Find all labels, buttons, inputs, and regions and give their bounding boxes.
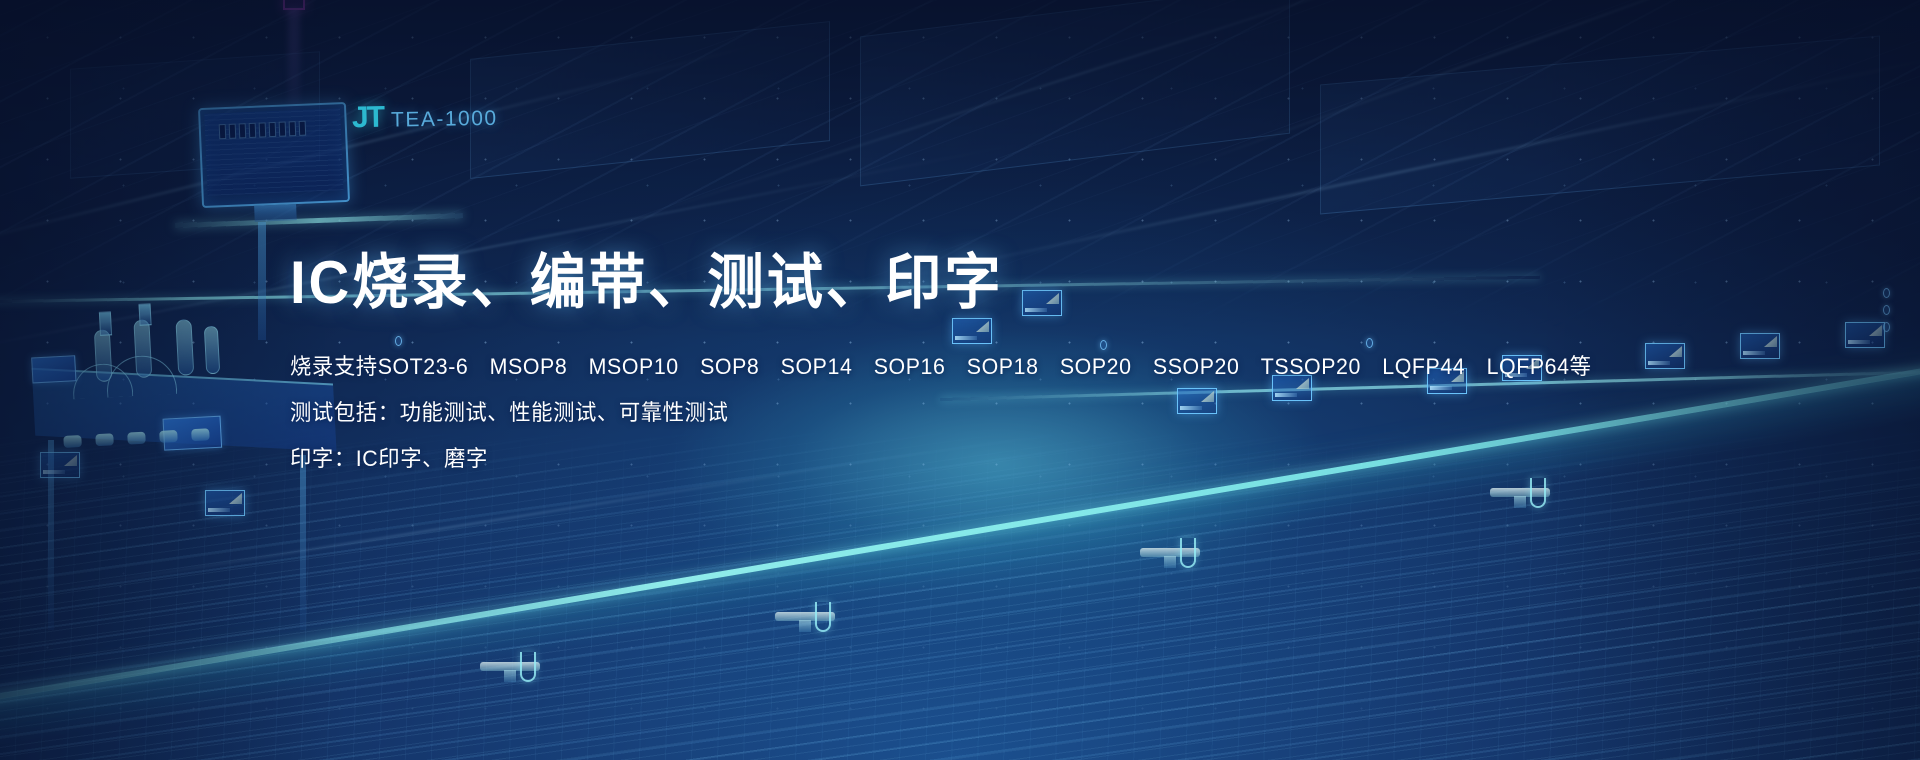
testing-line: 测试包括：功能测试、性能测试、可靠性测试 (290, 402, 1570, 424)
packages-line: 烧录支持SOT23-6MSOP8MSOP10SOP8SOP14SOP16SOP1… (290, 356, 1570, 378)
package-item: MSOP10 (589, 356, 679, 378)
package-item: SOP8 (700, 356, 759, 378)
package-item: SOP16 (874, 356, 946, 378)
packages-prefix: 烧录支持SOT23-6 (290, 354, 468, 379)
indicator-dot (1883, 288, 1890, 298)
package-list: MSOP8MSOP10SOP8SOP14SOP16SOP18SOP20SSOP2… (490, 354, 1592, 379)
floating-screen-icon (1740, 333, 1780, 359)
indicator-dot (1883, 305, 1890, 315)
package-item: SSOP20 (1153, 356, 1240, 378)
package-item: SOP20 (1060, 356, 1132, 378)
marking-line: 印字：IC印字、磨字 (290, 448, 1570, 470)
floating-screen-icon (1645, 343, 1685, 369)
floating-screen-icon (1845, 322, 1885, 348)
package-item: SOP14 (781, 356, 853, 378)
package-item: LQFP64等 (1487, 356, 1592, 378)
wall-panel (1320, 36, 1880, 215)
rail-cart (1140, 548, 1200, 574)
banner-content: IC烧录、编带、测试、印字 烧录支持SOT23-6MSOP8MSOP10SOP8… (290, 250, 1610, 494)
wall-panel (470, 21, 830, 179)
floating-screen-icon (40, 452, 80, 478)
package-item: SOP18 (967, 356, 1039, 378)
rail-cart (480, 662, 540, 688)
wall-panel (860, 0, 1290, 186)
package-item: MSOP8 (490, 356, 568, 378)
package-item: LQFP44 (1382, 356, 1465, 378)
equipment-logo: JT TEA-1000 (352, 99, 498, 136)
page-title: IC烧录、编带、测试、印字 (290, 250, 1531, 316)
ic-services-banner: JT TEA-1000 IC烧录、编带、测试、印字 烧录支持SOT23-6MSO… (0, 0, 1920, 760)
equipment-brand-label: JT (352, 101, 384, 136)
rail-cart (170, 718, 230, 744)
rail-cart (775, 612, 835, 638)
equipment-model-label: TEA-1000 (391, 107, 498, 133)
monitor-shelf (175, 213, 463, 228)
banner-subtext: 烧录支持SOT23-6MSOP8MSOP10SOP8SOP14SOP16SOP1… (290, 356, 1610, 470)
factory-monitor-icon (198, 102, 350, 208)
package-item: TSSOP20 (1261, 356, 1361, 378)
floating-screen-icon (205, 490, 245, 516)
indicator-dot (1883, 322, 1890, 332)
